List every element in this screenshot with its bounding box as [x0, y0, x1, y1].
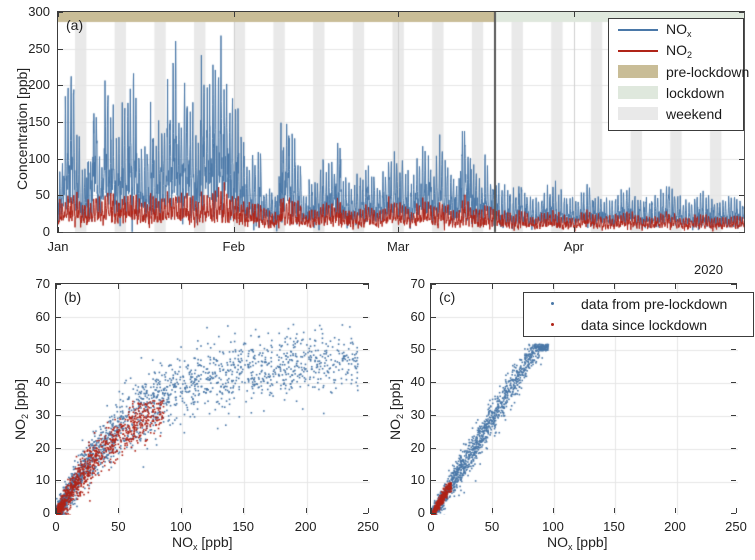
panel-c-xtickmark-top: [492, 284, 493, 289]
panel-c-tag: (c): [439, 289, 455, 305]
panel-c-ytickmark: [431, 317, 436, 318]
panel-a-ylabel: Concentration [ppb]: [14, 68, 30, 190]
panel-b-ytickmark: [56, 349, 61, 350]
panel-c-ytickmark-right: [731, 448, 736, 449]
panel-a-xtickmark-top: [398, 12, 399, 17]
panel-c-xtickmark: [736, 508, 737, 513]
legend-dot: [551, 323, 554, 326]
panel-c-ytickmark: [431, 349, 436, 350]
panel-b-xtick: 100: [156, 520, 206, 533]
panel-c-xlabel: NOx [ppb]: [547, 534, 608, 552]
panel-a-ytickmark-right: [739, 12, 744, 13]
panel-a-xtick: Apr: [549, 240, 599, 253]
panel-c-xtickmark-top: [614, 284, 615, 289]
year-label: 2020: [694, 262, 723, 277]
legend-label: lockdown: [666, 85, 724, 101]
panel-b-xtick: 150: [218, 520, 268, 533]
panel-a-ytickmark: [58, 49, 63, 50]
panel-a-legend: NOxNO2pre-lockdownlockdownweekend: [608, 18, 744, 131]
panel-b-ytickmark-right: [363, 349, 368, 350]
panel-a-xtickmark: [398, 227, 399, 232]
panel-b-ytickmark-right: [363, 382, 368, 383]
panel-c-xtick: 150: [589, 520, 639, 533]
panel-a-xtick: Feb: [209, 240, 259, 253]
panel-a-xtickmark-top: [234, 12, 235, 17]
panel-a-xtickmark: [58, 227, 59, 232]
panel-a-tag: (a): [66, 17, 83, 33]
panel-c-ytickmark: [431, 382, 436, 383]
panel-b-xtickmark: [306, 508, 307, 513]
panel-c-ytick: 10: [387, 473, 425, 486]
panel-c-legend: data from pre-lockdowndata since lockdow…: [523, 292, 754, 337]
panel-c-ytick: 20: [387, 441, 425, 454]
legend-item-nox-series: NOx: [609, 19, 743, 40]
panel-b-ytickmark: [56, 382, 61, 383]
legend-item-since-lockdown-points: data since lockdown: [524, 314, 753, 335]
panel-c-xtickmark-top: [736, 284, 737, 289]
panel-b-xtickmark: [56, 508, 57, 513]
panel-b-ylabel: NO2 [ppb]: [12, 379, 30, 440]
panel-a-xtickmark-top: [574, 12, 575, 17]
panel-a-ytickmark-right: [739, 232, 744, 233]
panel-a-ytick: 50: [6, 188, 50, 201]
panel-a-ytickmark: [58, 85, 63, 86]
panel-c-ytick: 60: [387, 310, 425, 323]
panel-c-ytickmark-right: [731, 349, 736, 350]
legend-item-pre-lockdown-band: pre-lockdown: [609, 61, 743, 82]
panel-b-xtickmark-top: [118, 284, 119, 289]
panel-b-ytickmark-right: [363, 513, 368, 514]
panel-c-xtickmark: [431, 508, 432, 513]
legend-label: NOx: [666, 21, 692, 39]
panel-c-ytickmark: [431, 415, 436, 416]
panel-b-ytickmark-right: [363, 415, 368, 416]
panel-b-ytickmark-right: [363, 317, 368, 318]
panel-b-xtickmark: [243, 508, 244, 513]
legend-label: NO2: [666, 42, 692, 60]
panel-b-xtickmark: [181, 508, 182, 513]
panel-b-xtickmark: [118, 508, 119, 513]
panel-c-xtick: 0: [406, 520, 456, 533]
panel-c-xtickmark-top: [675, 284, 676, 289]
panel-b-ytick: 70: [12, 277, 50, 290]
legend-item-pre-lockdown-points: data from pre-lockdown: [524, 293, 753, 314]
panel-a-xtick: Jan: [33, 240, 83, 253]
panel-c-ytick: 50: [387, 342, 425, 355]
panel-c-xtickmark-top: [553, 284, 554, 289]
legend-item-lockdown-band: lockdown: [609, 82, 743, 103]
panel-a-xtickmark-top: [58, 12, 59, 17]
figure-canvas: (a) 050100150200250300 JanFebMarApr Conc…: [0, 0, 755, 560]
legend-dot: [551, 302, 554, 305]
panel-c-ytickmark-right: [731, 513, 736, 514]
panel-a-ytickmark-right: [739, 159, 744, 160]
panel-c-xtickmark: [492, 508, 493, 513]
legend-label: data since lockdown: [581, 317, 707, 333]
panel-a-ytickmark-right: [739, 195, 744, 196]
panel-c-ytickmark-right: [731, 480, 736, 481]
panel-a-xtickmark: [574, 227, 575, 232]
panel-c-ytickmark-right: [731, 382, 736, 383]
panel-c-ytickmark: [431, 480, 436, 481]
legend-point-swatch: [533, 297, 573, 310]
panel-c-ylabel: NO2 [ppb]: [387, 379, 405, 440]
legend-label: data from pre-lockdown: [581, 296, 727, 312]
panel-a-xtick: Mar: [373, 240, 423, 253]
legend-color-swatch: [618, 107, 658, 120]
panel-b-tag: (b): [64, 289, 81, 305]
panel-c-xtick: 250: [711, 520, 755, 533]
panel-c-xtickmark: [553, 508, 554, 513]
legend-item-no2-series: NO2: [609, 40, 743, 61]
panel-c-ytickmark-right: [731, 415, 736, 416]
panel-b-xtick: 0: [31, 520, 81, 533]
panel-a-ytickmark: [58, 159, 63, 160]
panel-b-ytickmark-right: [363, 480, 368, 481]
panel-a-ytick: 250: [6, 42, 50, 55]
panel-b-xlabel: NOx [ppb]: [172, 534, 233, 552]
panel-b-ytickmark: [56, 317, 61, 318]
legend-item-weekend-band: weekend: [609, 103, 743, 124]
panel-a-ytickmark: [58, 195, 63, 196]
panel-b-xtickmark-top: [306, 284, 307, 289]
panel-b-xtick: 50: [93, 520, 143, 533]
panel-b-ytickmark: [56, 480, 61, 481]
panel-b-xtickmark-top: [368, 284, 369, 289]
panel-a-ytickmark: [58, 232, 63, 233]
panel-c-ytickmark: [431, 448, 436, 449]
panel-c-ytickmark: [431, 513, 436, 514]
panel-c-xtickmark-top: [431, 284, 432, 289]
panel-a-ytick: 0: [6, 225, 50, 238]
legend-point-swatch: [533, 318, 573, 331]
panel-c-ytick: 0: [387, 506, 425, 519]
panel-b-ytick: 20: [12, 441, 50, 454]
panel-a-ytick: 300: [6, 5, 50, 18]
legend-label: weekend: [666, 106, 722, 122]
panel-c-xtickmark: [614, 508, 615, 513]
panel-b-ytick: 60: [12, 310, 50, 323]
panel-b-xtickmark-top: [181, 284, 182, 289]
legend-line-swatch: [618, 29, 658, 31]
panel-c-xtickmark: [675, 508, 676, 513]
panel-b-xtickmark: [368, 508, 369, 513]
legend-label: pre-lockdown: [666, 64, 749, 80]
legend-color-swatch: [618, 86, 658, 99]
panel-b-ytick: 10: [12, 473, 50, 486]
panel-b-ytickmark: [56, 415, 61, 416]
panel-b-xtickmark-top: [243, 284, 244, 289]
panel-b-ytickmark-right: [363, 448, 368, 449]
legend-line-swatch: [618, 50, 658, 52]
panel-a-ytickmark: [58, 122, 63, 123]
panel-c-xtick: 200: [650, 520, 700, 533]
panel-c-xtick: 50: [467, 520, 517, 533]
panel-c-xtick: 100: [528, 520, 578, 533]
panel-c-ytick: 70: [387, 277, 425, 290]
panel-b-ytick: 50: [12, 342, 50, 355]
panel-b-scatter-canvas: [56, 284, 370, 515]
legend-color-swatch: [618, 65, 658, 78]
panel-b-ytickmark: [56, 513, 61, 514]
panel-a-xtickmark: [234, 227, 235, 232]
panel-b-xtick: 250: [343, 520, 393, 533]
panel-b-ytick: 0: [12, 506, 50, 519]
panel-b-ytickmark: [56, 448, 61, 449]
panel-b-xtickmark-top: [56, 284, 57, 289]
panel-b-xtick: 200: [281, 520, 331, 533]
